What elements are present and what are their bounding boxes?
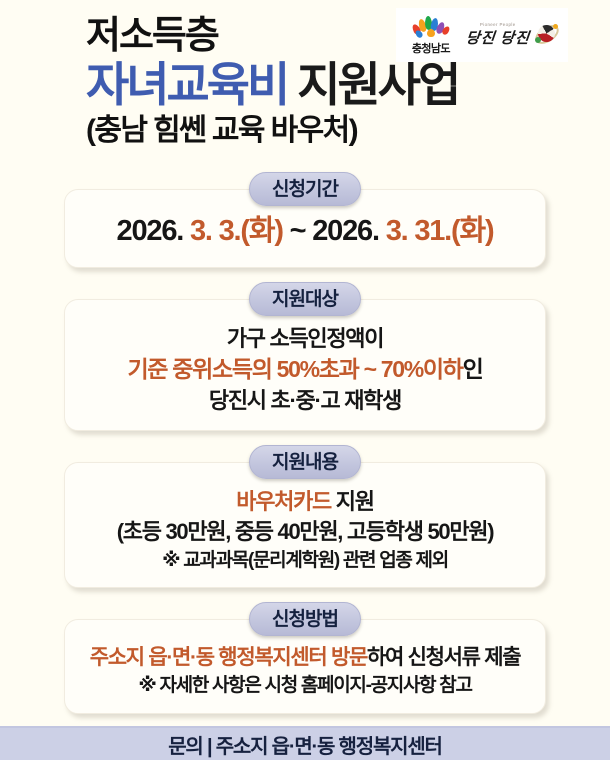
poster-root: 충청남도 Pioneer People 당진 당진 저소득층 자녀교육비 지원사… [0,0,610,760]
section-eligibility: 지원대상 가구 소득인정액이 기준 중위소득의 50%초과 ~ 70%이하인 당… [64,282,546,431]
method-highlight: 주소지 읍·면·동 행정복지센터 방문 [90,646,367,669]
dangjin-swirl-icon [532,21,562,49]
section-application-period: 신청기간 2026. 3. 3.(화) ~ 2026. 3. 31.(화) [64,172,546,268]
period-line: 2026. 3. 3.(화) ~ 2026. 3. 31.(화) [77,212,533,251]
eligibility-line-1: 가구 소득인정액이 [77,324,533,353]
period-part-2: ~ 2026. [283,215,386,247]
dangjin-logo-words: Pioneer People 당진 당진 [466,22,530,48]
poster-footer: 문의 | 주소지 읍·면·동 행정복지센터 [0,726,610,760]
period-part-3: 3. 31.(화) [386,215,494,247]
chungcheongnamdo-mark-icon [410,15,452,39]
badge-benefit: 지원내용 [249,445,361,479]
eligibility-highlight: 기준 중위소득의 50%초과 ~ 70%이하 [127,356,462,382]
title-highlight: 자녀교육비 [86,58,287,111]
title-rest: 지원사업 [287,58,458,111]
chungcheongnamdo-logo-label: 충청남도 [412,40,450,56]
period-part-0: 2026. [117,215,190,247]
eligibility-line-2: 기준 중위소득의 50%초과 ~ 70%이하인 [77,354,533,385]
badge-application-period: 신청기간 [249,172,361,206]
benefit-line-1: 바우처카드 지원 [77,487,533,516]
benefit-note: ※ 교과과목(문리계학원) 관련 업종 제외 [77,548,533,573]
logo-strip: 충청남도 Pioneer People 당진 당진 [396,8,568,62]
dangjin-logo-label: 당진 당진 [465,27,531,48]
dangjin-logo: Pioneer People 당진 당진 [466,21,562,49]
section-benefit: 지원내용 바우처카드 지원 (초등 30만원, 중등 40만원, 고등학생 50… [64,445,546,588]
method-suffix: 하여 신청서류 제출 [367,646,520,669]
benefit-suffix: 지원 [331,489,374,514]
title-line-2: 자녀교육비 지원사업 [86,59,610,112]
benefit-highlight: 바우처카드 [236,489,331,514]
method-note: ※ 자세한 사항은 시청 홈페이지-공지사항 참고 [77,673,533,698]
badge-how-to-apply: 신청방법 [249,602,361,636]
eligibility-line-3: 당진시 초·중·고 재학생 [77,386,533,415]
eligibility-suffix: 인 [463,356,483,382]
footer-contact-text: 문의 | 주소지 읍·면·동 행정복지센터 [168,730,442,759]
card-benefit: 바우처카드 지원 (초등 30만원, 중등 40만원, 고등학생 50만원) ※… [64,462,546,588]
section-how-to-apply: 신청방법 주소지 읍·면·동 행정복지센터 방문하여 신청서류 제출 ※ 자세한… [64,602,546,714]
poster-header: 충청남도 Pioneer People 당진 당진 저소득층 자녀교육비 지원사… [0,0,610,172]
card-eligibility: 가구 소득인정액이 기준 중위소득의 50%초과 ~ 70%이하인 당진시 초·… [64,299,546,431]
benefit-amounts: (초등 30만원, 중등 40만원, 고등학생 50만원) [77,517,533,546]
method-line-1: 주소지 읍·면·동 행정복지센터 방문하여 신청서류 제출 [77,644,533,672]
period-part-1: 3. 3.(화) [190,215,283,247]
title-subtitle: (충남 힘쎈 교육 바우처) [86,112,610,150]
badge-eligibility: 지원대상 [249,282,361,316]
chungcheongnamdo-logo: 충청남도 [402,15,460,56]
